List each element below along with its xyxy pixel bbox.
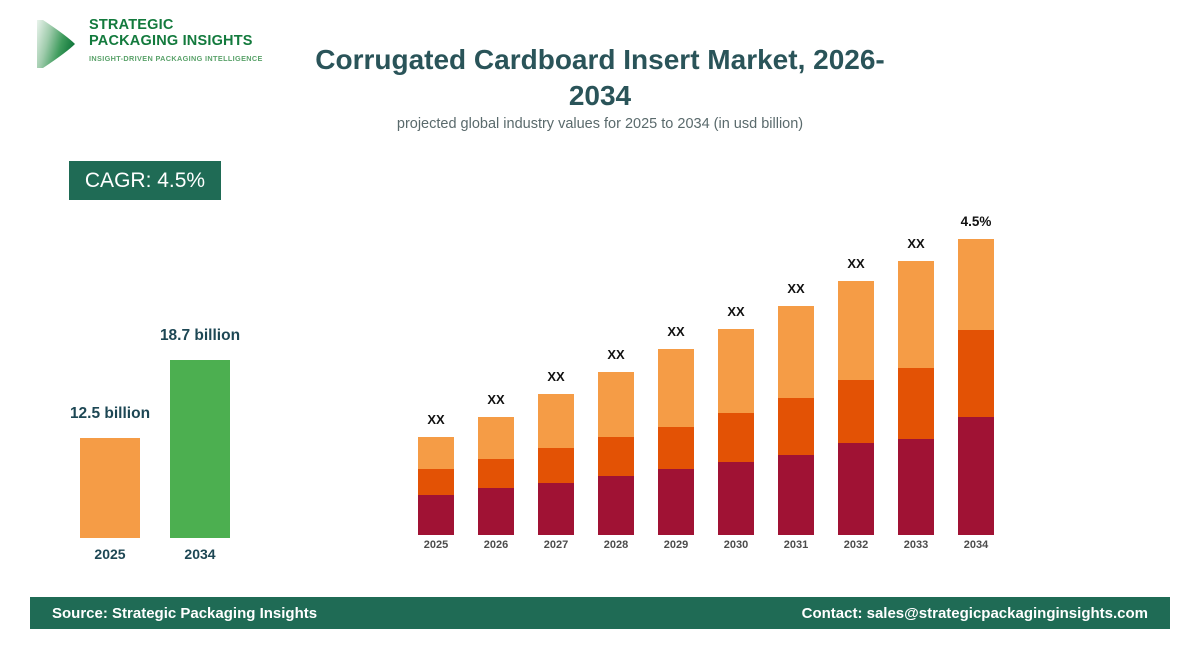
stacked-bar-value-label-2028: XX bbox=[576, 347, 656, 362]
bar-segment-middle-2031 bbox=[778, 398, 814, 455]
stacked-bar-2025 bbox=[418, 437, 454, 535]
stacked-bar-2034 bbox=[958, 239, 994, 535]
stacked-bar-value-label-2034: 4.5% bbox=[936, 214, 1016, 229]
infographic-page: STRATEGIC PACKAGING INSIGHTS INSIGHT-DRI… bbox=[0, 0, 1200, 650]
bar-segment-bottom-2033 bbox=[898, 439, 934, 535]
bar-segment-middle-2029 bbox=[658, 427, 694, 469]
bar-segment-top-2026 bbox=[478, 417, 514, 459]
stacked-bar-value-label-2032: XX bbox=[816, 256, 896, 271]
stacked-bar-value-label-2033: XX bbox=[876, 236, 956, 251]
bar-segment-top-2030 bbox=[718, 329, 754, 413]
bar-segment-middle-2032 bbox=[838, 380, 874, 443]
bar-segment-middle-2026 bbox=[478, 459, 514, 488]
forecast-stacked-chart: XX2025XX2026XX2027XX2028XX2029XX2030XX20… bbox=[0, 0, 1200, 600]
stacked-bar-2032 bbox=[838, 281, 874, 535]
stacked-bar-2028 bbox=[598, 372, 634, 535]
bar-segment-bottom-2031 bbox=[778, 455, 814, 535]
bar-segment-middle-2034 bbox=[958, 330, 994, 417]
footer-contact: Contact: sales@strategicpackaginginsight… bbox=[802, 597, 1148, 629]
bar-segment-bottom-2034 bbox=[958, 417, 994, 535]
bar-segment-middle-2025 bbox=[418, 469, 454, 495]
stacked-bar-2033 bbox=[898, 261, 934, 535]
stacked-bar-2026 bbox=[478, 417, 514, 535]
bar-segment-bottom-2027 bbox=[538, 483, 574, 535]
stacked-bar-value-label-2025: XX bbox=[396, 412, 476, 427]
footer-source: Source: Strategic Packaging Insights bbox=[52, 597, 317, 629]
bar-segment-bottom-2028 bbox=[598, 476, 634, 535]
footer-bar: Source: Strategic Packaging Insights Con… bbox=[30, 597, 1170, 629]
bar-segment-top-2025 bbox=[418, 437, 454, 469]
stacked-bar-2029 bbox=[658, 349, 694, 535]
bar-segment-bottom-2026 bbox=[478, 488, 514, 535]
stacked-bar-value-label-2029: XX bbox=[636, 324, 716, 339]
bar-segment-bottom-2032 bbox=[838, 443, 874, 535]
bar-segment-bottom-2030 bbox=[718, 462, 754, 535]
bar-segment-top-2033 bbox=[898, 261, 934, 368]
bar-segment-bottom-2029 bbox=[658, 469, 694, 535]
stacked-bar-2030 bbox=[718, 329, 754, 535]
stacked-bar-2031 bbox=[778, 306, 814, 535]
stacked-bar-value-label-2030: XX bbox=[696, 304, 776, 319]
bar-segment-bottom-2025 bbox=[418, 495, 454, 535]
stacked-bar-value-label-2027: XX bbox=[516, 369, 596, 384]
stacked-bar-2027 bbox=[538, 394, 574, 535]
stacked-bar-year-2034: 2034 bbox=[936, 539, 1016, 551]
bar-segment-top-2031 bbox=[778, 306, 814, 398]
bar-segment-middle-2027 bbox=[538, 448, 574, 483]
bar-segment-top-2027 bbox=[538, 394, 574, 448]
bar-segment-top-2034 bbox=[958, 239, 994, 330]
stacked-bar-value-label-2031: XX bbox=[756, 281, 836, 296]
bar-segment-middle-2033 bbox=[898, 368, 934, 439]
bar-segment-middle-2030 bbox=[718, 413, 754, 462]
bar-segment-middle-2028 bbox=[598, 437, 634, 476]
bar-segment-top-2028 bbox=[598, 372, 634, 437]
bar-segment-top-2032 bbox=[838, 281, 874, 380]
bar-segment-top-2029 bbox=[658, 349, 694, 427]
stacked-bar-value-label-2026: XX bbox=[456, 392, 536, 407]
